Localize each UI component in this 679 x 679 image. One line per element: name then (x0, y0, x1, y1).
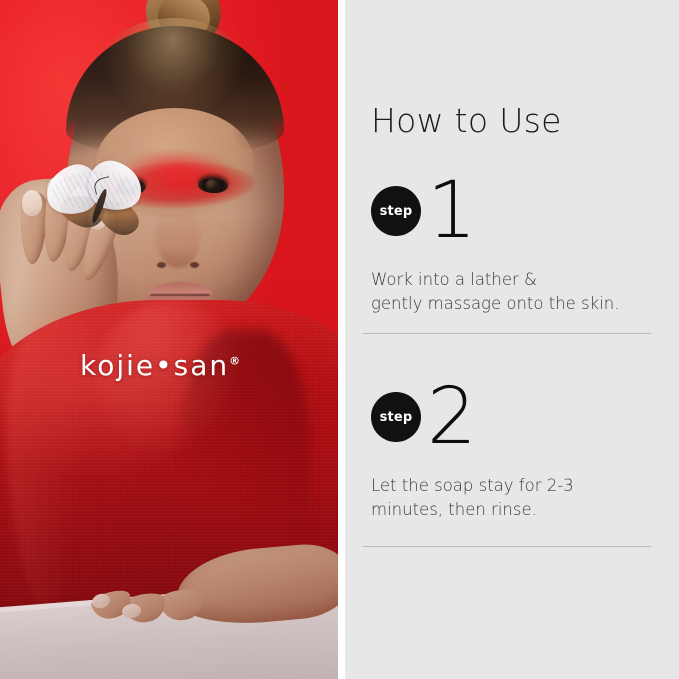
page-title: How to Use (371, 103, 562, 139)
step-2-badge: step (371, 392, 421, 442)
step-item-2: step 2 Let the soap stay for 2-3 minutes… (345, 392, 679, 476)
step-1-number: 1 (427, 172, 477, 250)
step-1-header: step 1 (345, 186, 679, 270)
step-1-badge-label: step (380, 205, 413, 218)
step-2-badge-label: step (380, 411, 413, 424)
step-2-number: 2 (427, 378, 477, 456)
step-2-header: step 2 (345, 392, 679, 476)
brand-logo: kojie•san® (80, 352, 240, 380)
product-hero-photo: kojie•san® (0, 0, 338, 679)
step-1-description: Work into a lather & gently massage onto… (371, 268, 661, 316)
product-how-to-use-card: kojie•san® How to Use step 1 Work into a… (0, 0, 679, 679)
divider-1 (363, 333, 651, 334)
instructions-panel: How to Use step 1 Work into a lather & g… (345, 0, 679, 679)
photo-vignette (0, 0, 338, 679)
brand-logo-text: kojie•san (80, 349, 229, 382)
divider-2 (363, 546, 651, 547)
step-1-badge: step (371, 186, 421, 236)
registered-trademark-icon: ® (229, 355, 240, 368)
step-item-1: step 1 Work into a lather & gently massa… (345, 186, 679, 270)
step-2-description: Let the soap stay for 2-3 minutes, then … (371, 474, 661, 522)
